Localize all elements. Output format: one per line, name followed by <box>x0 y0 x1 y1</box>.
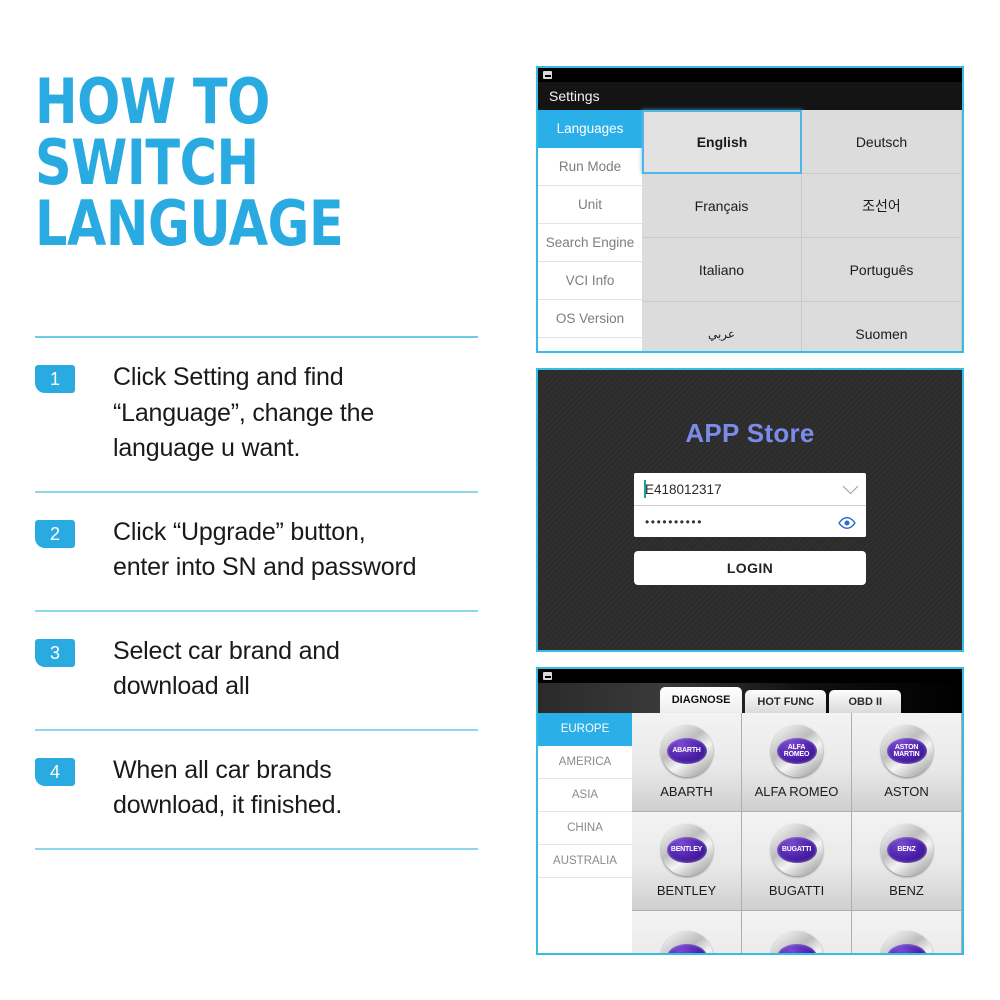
app-tray-icon <box>543 71 552 79</box>
step-text: Select car brand and download all <box>113 634 340 705</box>
tab-hot-func[interactable]: HOT FUNC <box>745 690 826 713</box>
brand-label: ASTON <box>884 784 929 799</box>
aston-martin-logo-icon: ASTON MARTIN <box>881 725 933 777</box>
language-option-portugues[interactable]: Português <box>802 238 962 302</box>
tab-obd-ii[interactable]: OBD II <box>829 690 901 713</box>
brand-cell-citroen[interactable]: CITROEN <box>742 911 852 955</box>
sidebar-item-unit[interactable]: Unit <box>538 186 642 224</box>
language-option-francais[interactable]: Français <box>642 174 802 238</box>
appstore-panel: APP Store E418012317 •••••••••• <box>538 370 962 650</box>
sidebar-item-languages[interactable]: Languages <box>538 110 642 148</box>
settings-sidebar: Languages Run Mode Unit Search Engine VC… <box>538 110 642 351</box>
brand-cell-benz[interactable]: BENZ BENZ <box>852 812 962 911</box>
settings-body: Languages Run Mode Unit Search Engine VC… <box>538 110 962 351</box>
poster-root: HOW TO SWITCH LANGUAGE 1 Click Setting a… <box>0 0 1000 1000</box>
bentley-logo-icon: BENTLEY <box>661 824 713 876</box>
brand-logo-text: BUGATTI <box>777 837 817 863</box>
step-number-badge: 1 <box>35 365 75 393</box>
step-number-badge: 3 <box>35 639 75 667</box>
language-option-suomen[interactable]: Suomen <box>802 302 962 353</box>
sidebar-item-china[interactable]: CHINA <box>538 812 632 845</box>
brand-logo-text: DUCATI <box>667 944 707 956</box>
sidebar-item-vci-info[interactable]: VCI Info <box>538 262 642 300</box>
step-number-badge: 2 <box>35 520 75 548</box>
brand-label: BUGATTI <box>769 883 824 898</box>
settings-title-bar: Settings <box>538 82 962 110</box>
login-button[interactable]: LOGIN <box>634 551 866 585</box>
brand-cell-alfa-romeo[interactable]: ALFA ROMEO ALFA ROMEO <box>742 713 852 812</box>
sidebar-item-europe[interactable]: EUROPE <box>538 713 632 746</box>
ducati-logo-icon: DUCATI <box>661 931 713 956</box>
settings-title: Settings <box>549 88 600 104</box>
step-item: 2 Click “Upgrade” button, enter into SN … <box>35 493 480 610</box>
divider <box>35 848 478 850</box>
brand-cell-aston-martin[interactable]: ASTON MARTIN ASTON <box>852 713 962 812</box>
settings-screenshot: Settings Languages Run Mode Unit Search … <box>536 66 964 353</box>
tab-diagnose[interactable]: DIAGNOSE <box>660 687 743 713</box>
step-text: When all car brands download, it finishe… <box>113 753 342 824</box>
brand-cell-bugatti[interactable]: BUGATTI BUGATTI <box>742 812 852 911</box>
page-title: HOW TO SWITCH LANGUAGE <box>35 72 445 254</box>
brand-label: BENTLEY <box>657 883 716 898</box>
alfa-romeo-logo-icon: ALFA ROMEO <box>771 725 823 777</box>
brand-logo-text: BENZ <box>887 837 927 863</box>
car-brands-screenshot: DIAGNOSE HOT FUNC OBD II EUROPE AMERICA … <box>536 667 964 955</box>
brand-cell-dacia[interactable]: DACIA <box>852 911 962 955</box>
sidebar-item-america[interactable]: AMERICA <box>538 746 632 779</box>
status-bar <box>538 669 962 683</box>
status-bar <box>538 68 962 82</box>
brands-top-bar: DIAGNOSE HOT FUNC OBD II <box>538 683 962 713</box>
step-number-badge: 4 <box>35 758 75 786</box>
abarth-logo-icon: ABARTH <box>661 725 713 777</box>
step-text: Click Setting and find “Language”, chang… <box>113 360 374 467</box>
brand-logo-text: BENTLEY <box>667 837 707 863</box>
step-item: 4 When all car brands download, it finis… <box>35 731 480 848</box>
bugatti-logo-icon: BUGATTI <box>771 824 823 876</box>
language-option-korean[interactable]: 조선어 <box>802 174 962 238</box>
password-input-value[interactable]: •••••••••• <box>645 515 838 529</box>
language-option-english[interactable]: English <box>642 110 802 174</box>
appstore-title: APP Store <box>685 418 814 449</box>
brand-label: BENZ <box>889 883 924 898</box>
brand-logo-text: CITROEN <box>777 944 817 956</box>
step-item: 3 Select car brand and download all <box>35 612 480 729</box>
sn-field-row[interactable]: E418012317 <box>634 473 866 505</box>
region-sidebar: EUROPE AMERICA ASIA CHINA AUSTRALIA <box>538 713 632 953</box>
appstore-login-screenshot: APP Store E418012317 •••••••••• <box>536 368 964 652</box>
brand-cell-bentley[interactable]: BENTLEY BENTLEY <box>632 812 742 911</box>
brand-logo-text: DACIA <box>887 944 927 956</box>
sidebar-item-asia[interactable]: ASIA <box>538 779 632 812</box>
step-item: 1 Click Setting and find “Language”, cha… <box>35 338 480 491</box>
language-option-deutsch[interactable]: Deutsch <box>802 110 962 174</box>
brand-logo-text: ASTON MARTIN <box>887 738 927 764</box>
language-grid: English Deutsch Français 조선어 Italiano Po… <box>642 110 962 351</box>
instructions-column: HOW TO SWITCH LANGUAGE 1 Click Setting a… <box>0 0 530 1000</box>
language-option-arabic[interactable]: عربي <box>642 302 802 353</box>
chevron-down-icon[interactable] <box>843 479 859 495</box>
brand-label: ALFA ROMEO <box>755 784 839 799</box>
brand-cell-ducati[interactable]: DUCATI <box>632 911 742 955</box>
sidebar-item-run-mode[interactable]: Run Mode <box>538 148 642 186</box>
brand-label: ABARTH <box>660 784 713 799</box>
dacia-logo-icon: DACIA <box>881 931 933 956</box>
app-tray-icon <box>543 672 552 680</box>
password-field-row[interactable]: •••••••••• <box>634 505 866 537</box>
eye-icon[interactable] <box>838 516 856 528</box>
benz-logo-icon: BENZ <box>881 824 933 876</box>
sidebar-item-os-version[interactable]: OS Version <box>538 300 642 338</box>
steps-list: 1 Click Setting and find “Language”, cha… <box>35 336 480 850</box>
brand-logo-text: ABARTH <box>667 738 707 764</box>
brands-body: EUROPE AMERICA ASIA CHINA AUSTRALIA ABAR… <box>538 713 962 953</box>
brand-logo-text: ALFA ROMEO <box>777 738 817 764</box>
sn-input-value[interactable]: E418012317 <box>645 482 845 497</box>
sidebar-item-australia[interactable]: AUSTRALIA <box>538 845 632 878</box>
brand-cell-abarth[interactable]: ABARTH ABARTH <box>632 713 742 812</box>
brands-tabs: DIAGNOSE HOT FUNC OBD II <box>660 687 905 713</box>
language-option-italiano[interactable]: Italiano <box>642 238 802 302</box>
step-text: Click “Upgrade” button, enter into SN an… <box>113 515 416 586</box>
text-caret <box>644 480 646 498</box>
brand-grid: ABARTH ABARTH ALFA ROMEO ALFA ROMEO ASTO… <box>632 713 962 953</box>
citroen-logo-icon: CITROEN <box>771 931 823 956</box>
sidebar-item-search-engine[interactable]: Search Engine <box>538 224 642 262</box>
login-form: E418012317 •••••••••• <box>634 473 866 537</box>
